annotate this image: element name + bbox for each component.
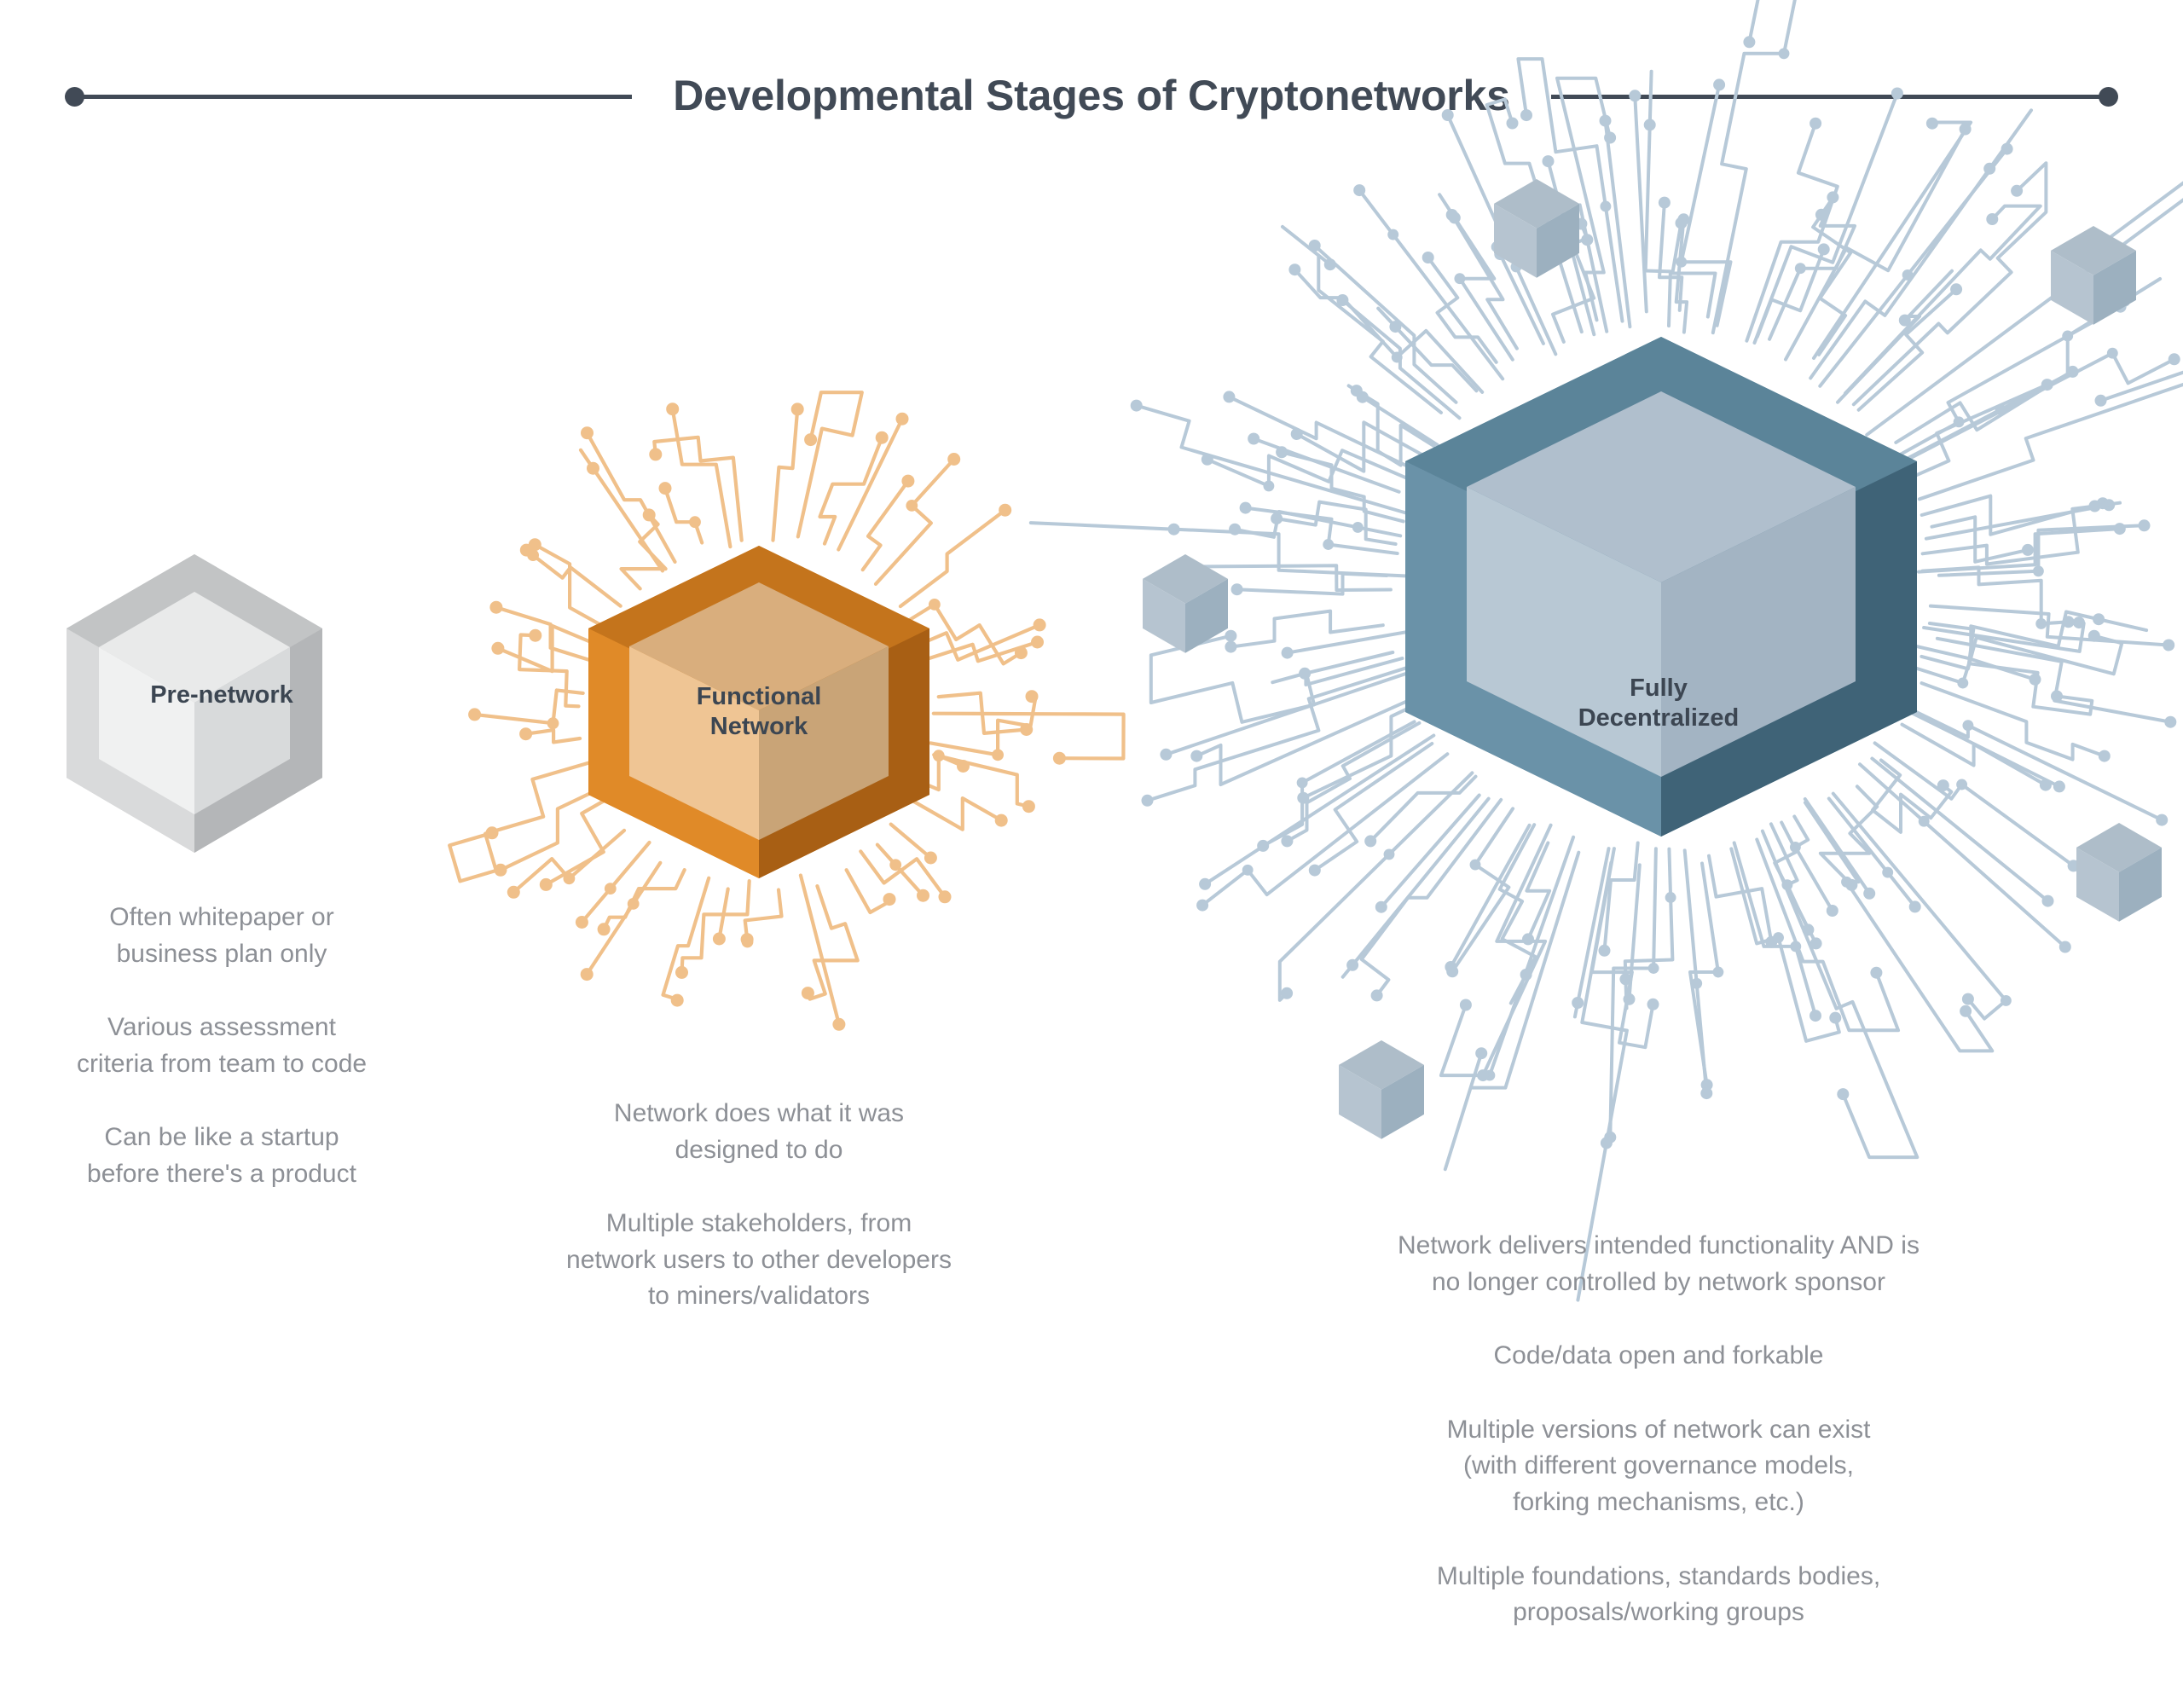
circuit-trace-pad bbox=[576, 916, 588, 929]
circuit-trace-pad bbox=[1520, 109, 1532, 121]
circuit-trace-pad bbox=[1034, 618, 1046, 631]
circuit-trace bbox=[934, 755, 1028, 807]
circuit-trace-pad bbox=[1779, 48, 1790, 59]
stage-functional-network: Functional Network Network does what it … bbox=[426, 375, 1091, 1049]
functional-network-bullet-2: Multiple stakeholders, from network user… bbox=[460, 1206, 1057, 1315]
fully-decentralized-bullet-2: Code/data open and forkable bbox=[1275, 1338, 2042, 1375]
circuit-trace-pad bbox=[675, 966, 688, 979]
circuit-trace-pad bbox=[519, 727, 532, 740]
circuit-trace-pad bbox=[999, 504, 1011, 517]
pre-network-cube bbox=[67, 554, 322, 854]
circuit-trace-pad bbox=[581, 968, 594, 981]
fully-decentralized-cube-svg bbox=[1405, 337, 1917, 838]
circuit-trace-pad bbox=[587, 462, 599, 475]
title-rule-right-dot bbox=[2099, 87, 2118, 107]
circuit-trace-pad bbox=[1053, 752, 1066, 765]
circuit-trace-pad bbox=[529, 629, 541, 642]
circuit-trace bbox=[665, 489, 702, 543]
circuit-trace-pad bbox=[883, 893, 896, 906]
circuit-trace-pad bbox=[671, 994, 684, 1007]
circuit-trace-pad bbox=[832, 1018, 845, 1031]
circuit-trace-pad bbox=[666, 402, 679, 415]
circuit-trace-pad bbox=[1543, 155, 1555, 167]
circuit-trace-pad bbox=[1031, 636, 1044, 649]
page-title: Developmental Stages of Cryptonetworks bbox=[664, 71, 1519, 120]
circuit-trace-pad bbox=[957, 760, 970, 773]
functional-network-cube bbox=[588, 546, 929, 880]
circuit-trace-pad bbox=[929, 599, 941, 611]
circuit-trace-pad bbox=[947, 453, 960, 466]
circuit-trace-pad bbox=[2001, 143, 2013, 155]
circuit-trace-pad bbox=[742, 936, 754, 948]
satellite-cube bbox=[1494, 179, 1579, 278]
circuit-trace-pad bbox=[1026, 690, 1039, 703]
circuit-trace-pad bbox=[1020, 723, 1033, 736]
stage-fully-decentralized-visual: Fully Decentralized bbox=[1134, 179, 2183, 1236]
fully-decentralized-bullet-3: Multiple versions of network can exist (… bbox=[1275, 1412, 2042, 1521]
fully-decentralized-bullets: Network delivers intended functionality … bbox=[1275, 1228, 2042, 1631]
circuit-trace-pad bbox=[1644, 119, 1656, 130]
circuit-trace-pad bbox=[939, 890, 952, 903]
satellite-cube bbox=[1339, 1040, 1424, 1139]
circuit-trace-pad bbox=[1629, 90, 1641, 101]
circuit-trace-pad bbox=[689, 516, 701, 528]
title-rule-right bbox=[1519, 78, 2183, 113]
circuit-trace-pad bbox=[527, 549, 539, 561]
circuit-trace-pad bbox=[489, 601, 502, 614]
circuit-trace-pad bbox=[1442, 109, 1454, 121]
circuit-trace-pad bbox=[992, 749, 1004, 761]
circuit-trace-pad bbox=[659, 482, 672, 495]
circuit-trace-pad bbox=[486, 826, 499, 839]
functional-network-bullets: Network does what it was designed to do … bbox=[460, 1096, 1057, 1315]
satellite-cube bbox=[2051, 226, 2136, 325]
circuit-trace-pad bbox=[1600, 115, 1612, 127]
circuit-trace-pad bbox=[628, 898, 640, 910]
circuit-trace bbox=[682, 881, 750, 972]
fully-decentralized-bullet-1: Network delivers intended functionality … bbox=[1275, 1228, 2042, 1300]
circuit-trace bbox=[808, 886, 857, 999]
circuit-trace-pad bbox=[540, 878, 553, 891]
circuit-trace-pad bbox=[547, 717, 559, 729]
stage-pre-network-visual: Pre-network bbox=[0, 546, 443, 870]
circuit-trace-pad bbox=[917, 889, 929, 902]
circuit-trace-pad bbox=[507, 886, 520, 899]
circuit-trace-pad bbox=[1810, 118, 1821, 130]
circuit-trace-pad bbox=[598, 923, 611, 935]
circuit-trace-pad bbox=[906, 500, 918, 512]
circuit-trace bbox=[934, 714, 1124, 759]
title-rule-left bbox=[0, 78, 664, 113]
pre-network-bullet-1: Often whitepaper or business plan only bbox=[9, 900, 435, 972]
circuit-trace-pad bbox=[1926, 118, 1938, 130]
functional-network-bullet-1: Network does what it was designed to do bbox=[460, 1096, 1057, 1168]
circuit-trace-pad bbox=[901, 475, 914, 488]
circuit-trace-pad bbox=[1713, 78, 1725, 90]
circuit-trace-pad bbox=[649, 448, 662, 460]
circuit-trace-pad bbox=[1507, 118, 1519, 130]
circuit-trace-pad bbox=[791, 402, 804, 415]
circuit-trace-pad bbox=[581, 426, 594, 439]
circuit-trace bbox=[673, 409, 731, 547]
circuit-trace-pad bbox=[876, 431, 889, 444]
circuit-trace-pad bbox=[896, 413, 909, 426]
circuit-trace bbox=[526, 730, 581, 742]
circuit-trace bbox=[449, 762, 592, 882]
circuit-trace-pad bbox=[468, 708, 481, 721]
circuit-trace-pad bbox=[804, 433, 817, 446]
fully-decentralized-bullet-4: Multiple foundations, standards bodies, … bbox=[1275, 1559, 2042, 1631]
circuit-trace-pad bbox=[605, 883, 617, 895]
fully-decentralized-cube bbox=[1405, 337, 1917, 838]
circuit-trace-pad bbox=[1022, 800, 1035, 813]
title-bar: Developmental Stages of Cryptonetworks bbox=[0, 61, 2183, 130]
pre-network-bullet-3: Can be like a startup before there's a p… bbox=[9, 1120, 435, 1192]
satellite-cube bbox=[1143, 554, 1228, 653]
pre-network-bullet-2: Various assessment criteria from team to… bbox=[9, 1010, 435, 1082]
circuit-trace bbox=[498, 626, 599, 671]
circuit-trace-pad bbox=[802, 987, 814, 999]
circuit-trace bbox=[773, 409, 798, 541]
satellite-cube bbox=[2076, 823, 2162, 922]
circuit-trace-pad bbox=[933, 750, 945, 761]
stage-functional-network-visual: Functional Network bbox=[426, 375, 1091, 1049]
title-rule-left-line bbox=[72, 95, 632, 99]
circuit-trace bbox=[588, 433, 675, 562]
circuit-trace-pad bbox=[1891, 88, 1903, 100]
stage-pre-network: Pre-network Often whitepaper or business… bbox=[0, 546, 443, 870]
functional-network-cube-svg bbox=[588, 546, 929, 880]
stage-fully-decentralized: Fully Decentralized Network delivers int… bbox=[1134, 179, 2183, 1236]
circuit-trace-pad bbox=[995, 814, 1008, 827]
circuit-trace-pad bbox=[491, 642, 504, 655]
circuit-trace-pad bbox=[713, 933, 726, 946]
circuit-trace-pad bbox=[1743, 36, 1755, 48]
pre-network-bullets: Often whitepaper or business plan only V… bbox=[9, 900, 435, 1193]
pre-network-cube-svg bbox=[67, 554, 322, 854]
